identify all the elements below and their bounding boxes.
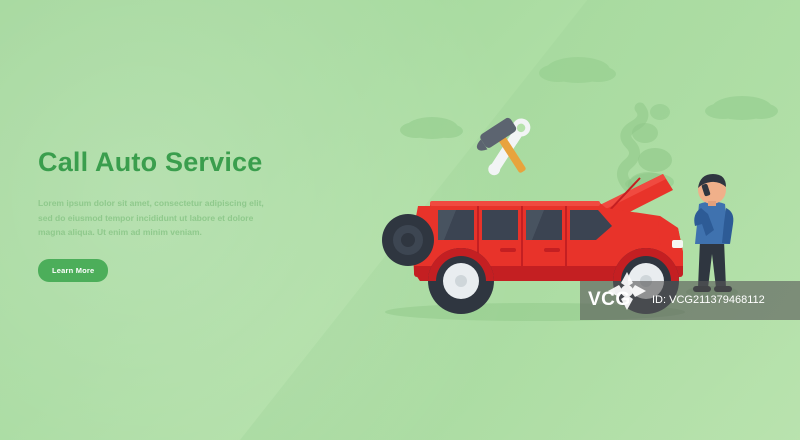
car-door-handle bbox=[500, 248, 516, 252]
watermark-logo: VCG bbox=[588, 289, 631, 311]
cloud-icon bbox=[539, 57, 616, 83]
learn-more-button[interactable]: Learn More bbox=[38, 259, 108, 282]
cloud-icon bbox=[400, 117, 463, 139]
page-title: Call Auto Service bbox=[38, 148, 338, 178]
car-door-handle bbox=[544, 248, 560, 252]
spare-tire bbox=[382, 214, 434, 266]
headlight bbox=[672, 240, 683, 248]
watermark-id: ID: VCG211379468112 bbox=[652, 294, 765, 306]
body-paragraph: Lorem ipsum dolor sit amet, consectetur … bbox=[38, 196, 270, 241]
crossed-wrench-and-hammer-icon bbox=[472, 115, 538, 186]
cloud-icon bbox=[705, 96, 778, 120]
illustration-canvas: Call Auto Service Lorem ipsum dolor sit … bbox=[0, 0, 800, 440]
car-roof bbox=[430, 201, 600, 206]
hero-copy-block: Call Auto Service Lorem ipsum dolor sit … bbox=[38, 148, 338, 282]
background-clouds bbox=[400, 57, 778, 191]
man-on-phone bbox=[686, 174, 738, 298]
